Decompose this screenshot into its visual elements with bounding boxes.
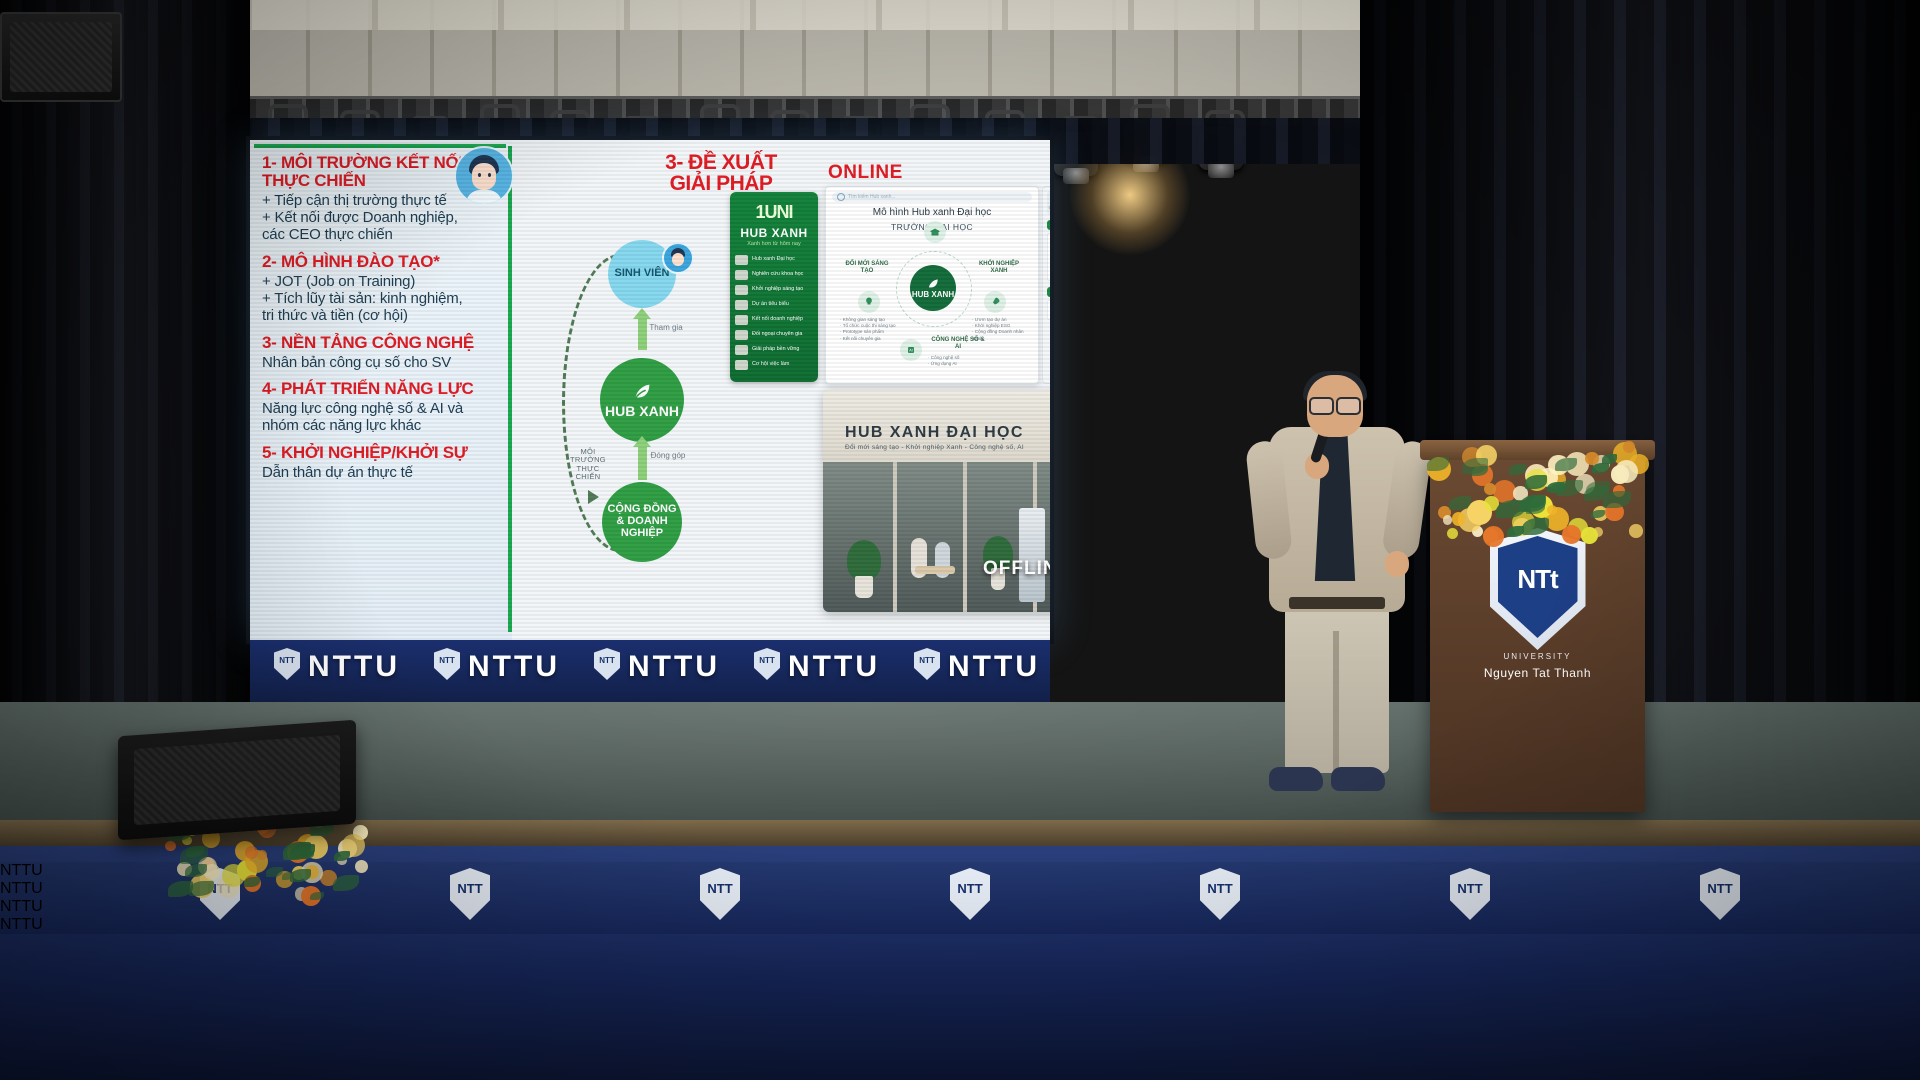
offline-label: OFFLINE bbox=[983, 558, 1050, 580]
dashed-arrow-head-bottom bbox=[588, 490, 599, 504]
hub-card-core: HUB XANH bbox=[910, 265, 956, 311]
iuni-item-thumbnail bbox=[735, 270, 748, 280]
flower-blossom bbox=[165, 841, 176, 852]
app-screenshot-card: Dự án Khởi Nghiệp - Sáng tạoDự án Khởi N… bbox=[1042, 186, 1050, 384]
hub-card-label-khoi-nghiep: KHỞI NGHIỆP XANH bbox=[972, 261, 1026, 274]
flow-node-cong-dong-label: CỘNG ĐỒNG & DOANH NGHIỆP bbox=[602, 504, 682, 540]
slide-section-line-4-2: nhóm các năng lực khác bbox=[262, 417, 502, 434]
iuni-item-label: Khởi nghiệp sáng tạo bbox=[752, 287, 803, 292]
hub-model-card: Tìm kiếm Hub xanh... Mô hình Hub xanh Đạ… bbox=[825, 186, 1039, 384]
app-item-card[interactable]: Ứng Dụng NanoSmartCell bbox=[1047, 233, 1050, 281]
app-tab-row: Dự án Khởi Nghiệp - Sáng tạoDự án Khởi N… bbox=[1043, 187, 1050, 217]
nttu-banner-text: NTTU bbox=[948, 650, 1040, 684]
slide-section-heading-3: 3- NỀN TẢNG CÔNG NGHỆ bbox=[262, 334, 502, 352]
iuni-item-thumbnail bbox=[735, 285, 748, 295]
slide-section-line-1-3: các CEO thực chiến bbox=[262, 226, 502, 243]
flower-blossom bbox=[222, 864, 245, 887]
nttu-shield-logo bbox=[274, 648, 300, 680]
app-item-grid: Ứng Dụng NanoSmartCellThực Hành Chuỗi Sử… bbox=[1043, 230, 1050, 284]
hub-card-label-cong-nghe: CÔNG NGHỆ SỐ & AI bbox=[928, 337, 988, 350]
flower-blossom bbox=[1447, 528, 1458, 539]
slide-section-line-1-2: + Kết nối được Doanh nghiệp, bbox=[262, 209, 502, 226]
nttu-banner-text: NTTU bbox=[308, 650, 400, 684]
iuni-list-item[interactable]: Dự án tiêu biểu bbox=[730, 297, 818, 312]
nttu-shield-logo bbox=[914, 648, 940, 680]
iuni-item-label: Đối ngoại chuyên gia bbox=[752, 332, 802, 337]
flower-blossom bbox=[1629, 524, 1643, 538]
search-icon bbox=[837, 193, 845, 201]
photo-window-mullion-2 bbox=[963, 462, 967, 612]
flower-blossom bbox=[355, 860, 368, 873]
hub-card-label-doi-moi: ĐỔI MỚI SÁNG TẠO bbox=[840, 261, 894, 274]
slide-section-line-3-1: Nhân bản công cụ số cho SV bbox=[262, 354, 502, 371]
hub-card-bullet: · Ứng dụng AI bbox=[928, 361, 990, 367]
slide-left-panel: 1- MÔI TRƯỜNG KẾT NỐI MỞ, THỰC CHIẾN+ Ti… bbox=[250, 140, 512, 640]
flower-leaf bbox=[333, 875, 359, 891]
speaker-shoe-right bbox=[1331, 767, 1385, 791]
podium-university-name: Nguyen Tat Thanh bbox=[1430, 666, 1645, 680]
nttu-banner-text: NTTU bbox=[628, 650, 720, 684]
app-tab-label: Dự án Khởi Nghiệp - Sáng tạo bbox=[1047, 206, 1050, 214]
photo-table-1 bbox=[915, 566, 955, 574]
arrow-tham-gia bbox=[638, 318, 647, 350]
nttu-banner-text: NTTU bbox=[788, 650, 880, 684]
photo-kiosk bbox=[1019, 508, 1045, 602]
hub-card-search-bar[interactable]: Tìm kiếm Hub xanh... bbox=[832, 192, 1032, 202]
photo-window-mullion-1 bbox=[893, 462, 897, 612]
online-label: ONLINE bbox=[828, 162, 903, 184]
iuni-list-item[interactable]: Cơ hội việc làm bbox=[730, 357, 818, 372]
iuni-tagline: Xanh hơn từ hôm nay bbox=[730, 241, 818, 247]
app-partner-logos: EDUZCông Ty TNHH EDU ZHội Kinh Nghiệp Đổ… bbox=[1043, 297, 1050, 323]
iuni-item-thumbnail bbox=[735, 315, 748, 325]
stage-monitor-speaker bbox=[118, 720, 356, 841]
nttu-apron-banner-text: NTTU bbox=[0, 916, 1920, 934]
flow-node-cong-dong: CỘNG ĐỒNG & DOANH NGHIỆP bbox=[602, 482, 682, 562]
app-partner-logo[interactable]: EDUZ bbox=[1047, 300, 1050, 320]
iuni-item-thumbnail bbox=[735, 300, 748, 310]
iuni-item-label: Hub xanh Đại học bbox=[752, 257, 795, 262]
flow-node-hub-xanh-label: HUB XANH bbox=[605, 404, 679, 419]
iuni-item-thumbnail bbox=[735, 330, 748, 340]
flower-leaf bbox=[1592, 463, 1608, 473]
flow-node-sinh-vien-label: SINH VIÊN bbox=[614, 268, 669, 280]
hub-card-bullets-cong-nghe: · Công nghệ số· Ứng dụng AI bbox=[928, 355, 990, 367]
slide-section-line-2-2: + Tích lũy tài sản: kinh nghiệm, bbox=[262, 290, 502, 307]
iuni-list-item[interactable]: Nghiên cứu khoa học bbox=[730, 267, 818, 282]
speaker-legs bbox=[1285, 603, 1389, 773]
podium-university-label: UNIVERSITY bbox=[1430, 652, 1645, 661]
iuni-item-label: Kết nối doanh nghiệp bbox=[752, 317, 803, 322]
rocket-icon bbox=[984, 291, 1006, 313]
conference-stage-photo: 1- MÔI TRƯỜNG KẾT NỐI MỞ, THỰC CHIẾN+ Ti… bbox=[0, 0, 1920, 1080]
speaker-hand-right bbox=[1385, 551, 1409, 577]
slide-section-heading-4: 4- PHÁT TRIỂN NĂNG LỰC bbox=[262, 380, 502, 398]
edge-label-moi-truong-thuc-chien: MÔI TRƯỜNG THỰC CHIẾN bbox=[566, 448, 610, 481]
flower-blossom bbox=[204, 864, 219, 879]
flower-blossom bbox=[1483, 526, 1504, 547]
pa-speaker-left bbox=[0, 12, 122, 102]
stage-led-skirt-banner: NTTUNTTUNTTUNTTUNTTU bbox=[250, 640, 1050, 702]
speaker-person bbox=[1245, 375, 1435, 805]
hub-card-bullets-doi-moi: · Không gian sáng tạo· Tổ chức cuộc thi … bbox=[840, 317, 896, 342]
iuni-item-label: Nghiên cứu khoa học bbox=[752, 272, 803, 277]
flower-blossom bbox=[1547, 505, 1557, 515]
flower-blossom bbox=[257, 850, 267, 860]
hub-card-search-placeholder: Tìm kiếm Hub xanh... bbox=[848, 194, 896, 200]
iuni-list-item[interactable]: Giải pháp bền vững bbox=[730, 342, 818, 357]
leaf-icon bbox=[631, 381, 653, 403]
podium-crest-text: NTt bbox=[1490, 564, 1586, 595]
hub-card-core-label: HUB XANH bbox=[912, 291, 954, 299]
ai-chip-icon: AI bbox=[900, 339, 922, 361]
app-section-header-1: Công Nghệ Số & AI Xem tất cả > bbox=[1047, 220, 1050, 230]
slide-section-line-4-1: Năng lực công nghệ số & AI và bbox=[262, 400, 502, 417]
speaker-belt bbox=[1289, 597, 1385, 609]
nttu-shield-logo bbox=[434, 648, 460, 680]
app-tab[interactable]: Dự án Khởi Nghiệp - Sáng tạo bbox=[1047, 191, 1050, 215]
iuni-item-label: Dự án tiêu biểu bbox=[752, 302, 789, 307]
slide-section-line-2-1: + JOT (Job on Training) bbox=[262, 273, 502, 290]
slide-section-heading-5: 5- KHỞI NGHIỆP/KHỞI SỰ bbox=[262, 444, 502, 462]
slide-center-title: 3- ĐỀ XUẤT GIẢI PHÁP bbox=[646, 152, 796, 195]
iuni-item-label: Cơ hội việc làm bbox=[752, 362, 789, 367]
nttu-shield-logo bbox=[594, 648, 620, 680]
iuni-subtitle: HUB XANH bbox=[730, 226, 818, 240]
flower-blossom bbox=[1443, 515, 1452, 524]
photo-sign-subtitle: Đổi mới sáng tạo - Khởi nghiệp Xanh - Cô… bbox=[845, 444, 1024, 451]
iuni-list-item[interactable]: Hub xanh Đại học bbox=[730, 252, 818, 267]
svg-text:AI: AI bbox=[909, 348, 913, 353]
university-building-icon bbox=[924, 221, 946, 243]
edge-label-dong-gop: Đóng góp bbox=[648, 452, 688, 461]
edge-label-tham-gia: Tham gia bbox=[646, 324, 686, 333]
flower-blossom bbox=[1452, 512, 1466, 526]
eyeglasses bbox=[1309, 397, 1361, 411]
hub-card-bullet: · Kết nối chuyên gia bbox=[840, 336, 896, 342]
iuni-app-card: 1UNI HUB XANH Xanh hơn từ hôm nay Hub xa… bbox=[730, 192, 818, 382]
arrow-dong-gop bbox=[638, 446, 647, 480]
flower-arrangement-podium bbox=[1425, 440, 1655, 550]
iuni-list-item[interactable]: Kết nối doanh nghiệp bbox=[730, 312, 818, 327]
sinh-vien-avatar-icon bbox=[662, 242, 694, 274]
photo-plant-1 bbox=[847, 540, 881, 580]
iuni-list-item[interactable]: Khởi nghiệp sáng tạo bbox=[730, 282, 818, 297]
iuni-list-item[interactable]: Đối ngoại chuyên gia bbox=[730, 327, 818, 342]
student-avatar-icon bbox=[454, 146, 514, 206]
photo-sign-title: HUB XANH ĐẠI HỌC bbox=[845, 424, 1024, 442]
iuni-item-thumbnail bbox=[735, 255, 748, 265]
nttu-shield-logo bbox=[754, 648, 780, 680]
nttu-banner-text: NTTU bbox=[468, 650, 560, 684]
flower-leaf bbox=[1522, 518, 1550, 535]
flower-leaf bbox=[310, 892, 324, 900]
photo-plant-pot-1 bbox=[855, 576, 873, 598]
slide-section-heading-2: 2- MÔ HÌNH ĐÀO TẠO* bbox=[262, 253, 502, 271]
speaker-shoe-left bbox=[1269, 767, 1323, 791]
iuni-item-label: Giải pháp bền vững bbox=[752, 347, 799, 352]
flower-leaf bbox=[334, 851, 350, 861]
iuni-item-thumbnail bbox=[735, 345, 748, 355]
hub-flow-diagram: SINH VIÊN Tham gia HUB XANH Đóng góp MÔI… bbox=[570, 240, 720, 570]
iuni-item-thumbnail bbox=[735, 360, 748, 370]
led-screen: 1- MÔI TRƯỜNG KẾT NỐI MỞ, THỰC CHIẾN+ Ti… bbox=[250, 140, 1050, 640]
app-section-header-2: Liên Minh Hệ Sinh Thái Xanh Xem tất cả > bbox=[1047, 287, 1050, 297]
lightbulb-icon bbox=[858, 291, 880, 313]
hub-xanh-storefront-photo: HUB XANH ĐẠI HỌC Đổi mới sáng tạo - Khởi… bbox=[823, 390, 1050, 612]
slide-section-line-2-3: tri thức và tiền (cơ hội) bbox=[262, 307, 502, 324]
hub-card-title: Mô hình Hub xanh Đại học bbox=[826, 207, 1038, 218]
flow-node-hub-xanh: HUB XANH bbox=[600, 358, 684, 442]
flower-leaf bbox=[1509, 464, 1526, 474]
leaf-icon bbox=[926, 277, 940, 291]
iuni-logo: 1UNI bbox=[730, 202, 818, 223]
slide-section-line-5-1: Dẫn thân dự án thực tế bbox=[262, 464, 502, 481]
flower-blossom bbox=[1581, 527, 1598, 544]
